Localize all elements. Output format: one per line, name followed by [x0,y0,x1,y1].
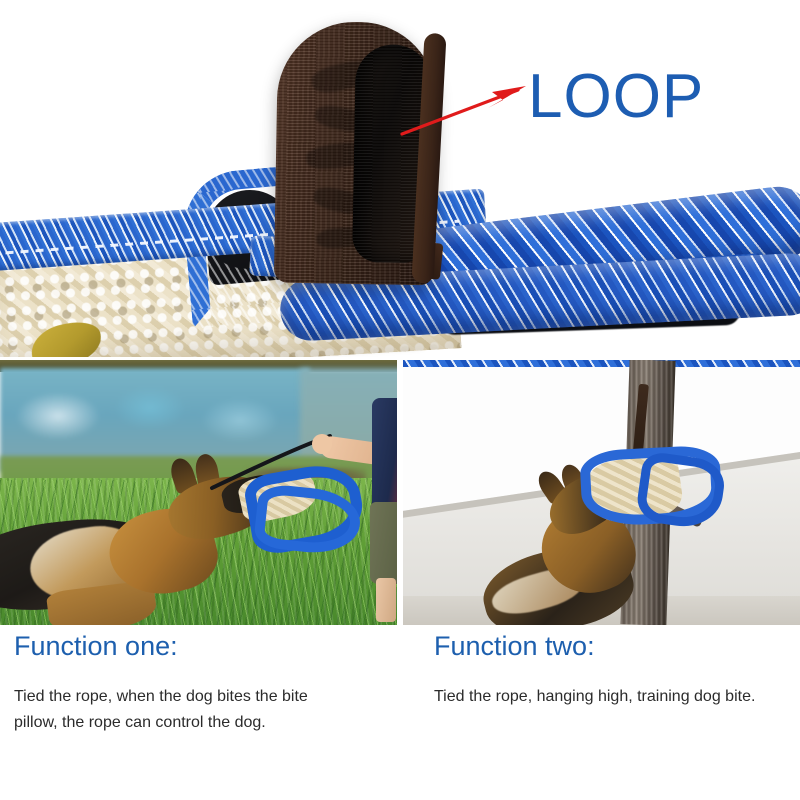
function-one-body: Tied the rope, when the dog bites the bi… [14,684,350,736]
brown-loop-handle [256,20,461,295]
product-infographic: LOOP [0,0,800,800]
loop-callout-label: LOOP [528,66,704,128]
handler-leg [376,578,396,622]
function-two-title: Function two: [434,632,800,662]
handler-hand [312,434,332,454]
function-two-photo [403,360,800,625]
photo-top-edge [403,360,800,367]
hero-product-photo: LOOP [0,0,800,357]
function-two-body: Tied the rope, hanging high, training do… [434,684,786,710]
function-one-photo [0,360,397,625]
handler-shorts [370,502,397,584]
function-one-caption: Function one: Tied the rope, when the do… [14,632,394,736]
handler-torso [372,398,397,510]
function-one-title: Function one: [14,632,394,662]
training-rope [0,360,397,625]
function-two-caption: Function two: Tied the rope, hanging hig… [434,632,800,710]
